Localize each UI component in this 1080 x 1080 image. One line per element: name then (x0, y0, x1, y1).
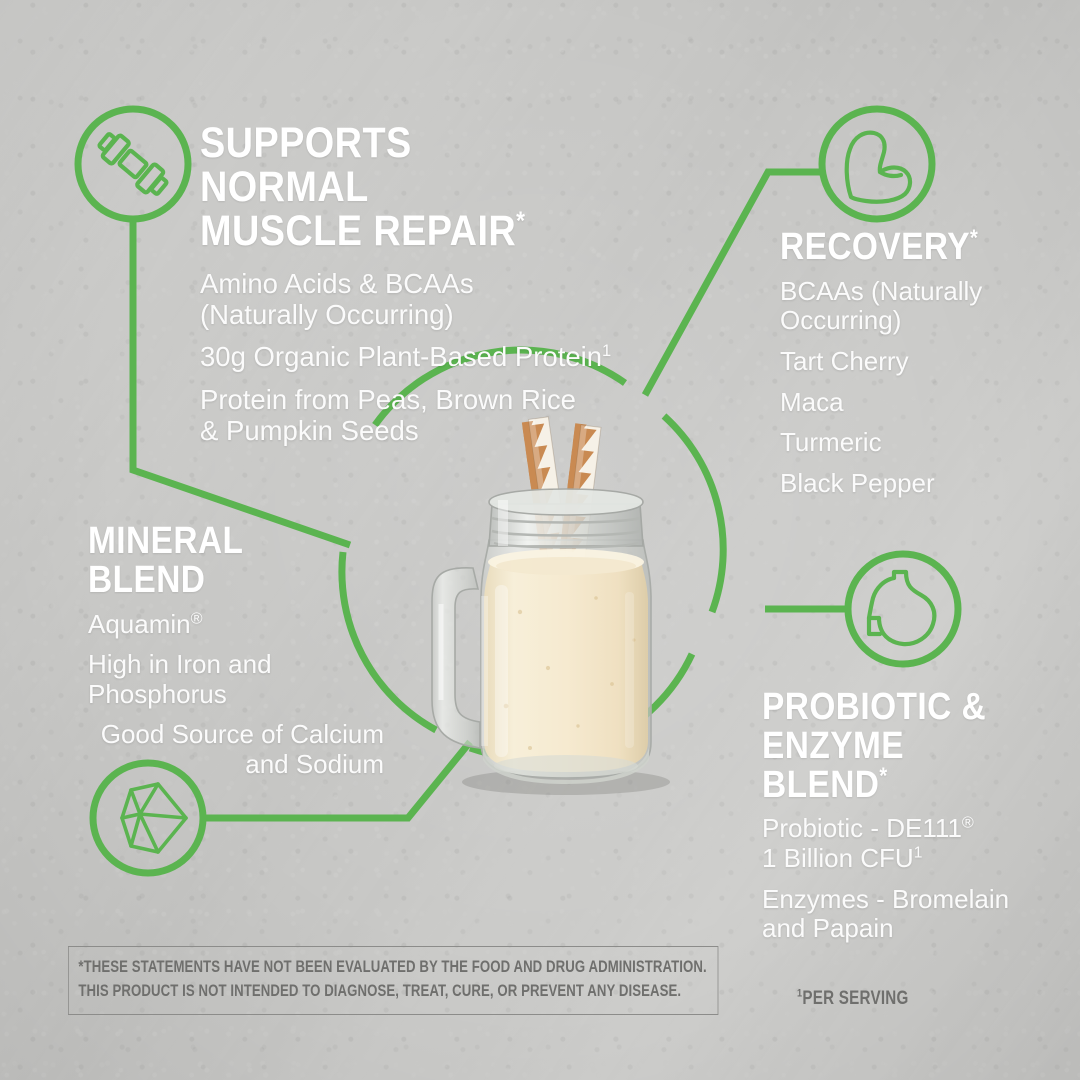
de111-registered-mark: ® (962, 814, 974, 832)
mineral-item-0: Aquamin® (88, 610, 398, 640)
probiotic-heading: PROBIOTIC & ENZYME BLEND* (762, 688, 1026, 804)
recovery-item-2: Maca (780, 388, 1042, 418)
recovery-item-1: Tart Cherry (780, 347, 1042, 377)
aquamin-registered-mark: ® (191, 609, 203, 627)
mineral-items: Aquamin® High in Iron andPhosphorus Good… (88, 610, 398, 780)
recovery-heading-asterisk: * (970, 224, 978, 250)
block-muscle-repair: SUPPORTS NORMAL MUSCLE REPAIR* Amino Aci… (200, 122, 630, 446)
muscle-heading-asterisk: * (516, 207, 525, 235)
mineral-item-1: High in Iron andPhosphorus (88, 650, 398, 709)
bicep-badge (822, 109, 932, 219)
muscle-item-2: Protein from Peas, Brown Rice& Pumpkin S… (200, 384, 620, 447)
recovery-item-4: Black Pepper (780, 469, 1042, 499)
recovery-item-3: Turmeric (780, 428, 1042, 458)
disclaimer-line-1: *THESE STATEMENTS HAVE NOT BEEN EVALUATE… (78, 956, 706, 980)
stomach-badge (848, 554, 958, 664)
probiotic-heading-asterisk: * (879, 762, 887, 788)
recovery-item-0: BCAAs (NaturallyOccurring) (780, 277, 1042, 336)
muscle-items: Amino Acids & BCAAs(Naturally Occurring)… (200, 268, 620, 447)
infographic-canvas: SUPPORTS NORMAL MUSCLE REPAIR* Amino Aci… (0, 0, 1080, 1080)
mineral-heading-line1: MINERAL (88, 520, 243, 562)
per-serving-footnote: 1PER SERVING (797, 988, 909, 1010)
block-probiotic-enzyme: PROBIOTIC & ENZYME BLEND* Probiotic - DE… (762, 688, 1062, 944)
probiotic-item-0: Probiotic - DE111® (762, 814, 1062, 844)
block-mineral-blend: MINERAL BLEND Aquamin® High in Iron andP… (88, 522, 398, 780)
flexed-bicep-icon (847, 133, 910, 202)
mineral-heading-line2: BLEND (88, 559, 205, 601)
muscle-heading-line2: MUSCLE REPAIR (200, 207, 516, 255)
probiotic-heading-line1: PROBIOTIC & (762, 686, 986, 728)
muscle-item-0: Amino Acids & BCAAs(Naturally Occurring) (200, 268, 620, 331)
probiotic-items: Probiotic - DE111® 1 Billion CFU1 Enzyme… (762, 814, 1062, 944)
footer: *THESE STATEMENTS HAVE NOT BEEN EVALUATE… (68, 946, 1028, 1015)
block-recovery: RECOVERY* BCAAs (NaturallyOccurring) Tar… (780, 228, 1042, 499)
fda-disclaimer-box: *THESE STATEMENTS HAVE NOT BEEN EVALUATE… (68, 946, 719, 1015)
muscle-item-1: 30g Organic Plant-Based Protein1 (200, 341, 620, 372)
dumbbell-circle (78, 109, 188, 219)
recovery-items: BCAAs (NaturallyOccurring) Tart Cherry M… (780, 277, 1042, 499)
muscle-heading: SUPPORTS NORMAL MUSCLE REPAIR* (200, 122, 578, 254)
recovery-heading-text: RECOVERY (780, 226, 970, 268)
disclaimer-line-2: THIS PRODUCT IS NOT INTENDED TO DIAGNOSE… (78, 980, 706, 1004)
dumbbell-icon (95, 129, 171, 199)
probiotic-item-1-footnote: 1 (914, 844, 923, 861)
probiotic-item-1: 1 Billion CFU1 (762, 844, 1062, 874)
mineral-item-2: Good Source of Calciumand Sodium (88, 720, 384, 779)
dumbbell-badge (78, 109, 188, 219)
muscle-heading-line1: SUPPORTS NORMAL (200, 119, 412, 211)
muscle-item-1-footnote: 1 (602, 342, 611, 360)
probiotic-item-2: Enzymes - Bromelainand Papain (762, 885, 1062, 944)
recovery-heading: RECOVERY* (780, 228, 1011, 267)
stomach-icon (869, 572, 934, 644)
mineral-heading: MINERAL BLEND (88, 522, 361, 600)
gem-icon (122, 784, 186, 852)
